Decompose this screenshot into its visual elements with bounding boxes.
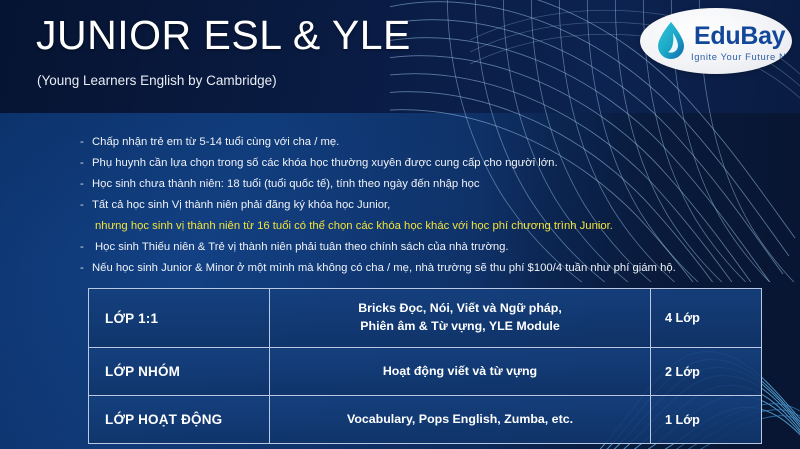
table-cell-description: Bricks Đọc, Nói, Viết và Ngữ pháp, Phiên… bbox=[270, 289, 651, 348]
list-item: - Phụ huynh cần lựa chọn trong số các kh… bbox=[80, 153, 780, 174]
logo-tagline: Ignite Your Future NOW! bbox=[691, 51, 792, 62]
list-item-label: Học sinh Thiếu niên & Trẻ vị thành niên … bbox=[95, 237, 509, 258]
logo-wordmark: EduBay bbox=[694, 22, 785, 51]
table-cell-description: Vocabulary, Pops English, Zumba, etc. bbox=[270, 396, 651, 444]
bullet-dash-icon: - bbox=[80, 195, 92, 216]
table-cell-description: Hoạt động viết và từ vựng bbox=[270, 348, 651, 396]
list-item-label: Chấp nhận trẻ em từ 5-14 tuổi cùng với c… bbox=[92, 132, 339, 153]
list-item-label: nhưng học sinh vị thành niên từ 16 tuổi … bbox=[95, 216, 613, 237]
table-cell-count: 4 Lớp bbox=[651, 289, 762, 348]
bullet-dash-icon: - bbox=[80, 237, 95, 258]
bullet-dash-icon: - bbox=[80, 174, 92, 195]
bullet-list: - Chấp nhận trẻ em từ 5-14 tuổi cùng với… bbox=[80, 132, 780, 279]
page-title: JUNIOR ESL & YLE bbox=[36, 12, 411, 59]
slide-root: JUNIOR ESL & YLE (Young Learners English… bbox=[0, 0, 800, 449]
table-row: LỚP NHÓM Hoạt động viết và từ vựng 2 Lớp bbox=[89, 348, 762, 396]
list-item-label: Phụ huynh cần lựa chọn trong số các khóa… bbox=[92, 153, 558, 174]
table-cell-count: 1 Lớp bbox=[651, 396, 762, 444]
list-item-highlighted: nhưng học sinh vị thành niên từ 16 tuổi … bbox=[80, 216, 780, 237]
class-types-table: LỚP 1:1 Bricks Đọc, Nói, Viết và Ngữ phá… bbox=[88, 288, 762, 444]
bullet-dash-icon: - bbox=[80, 132, 92, 153]
table-row: LỚP HOẠT ĐỘNG Vocabulary, Pops English, … bbox=[89, 396, 762, 444]
table-cell-class-name: LỚP NHÓM bbox=[89, 348, 270, 396]
list-item: - Nếu học sinh Junior & Minor ở một mình… bbox=[80, 258, 780, 279]
list-item: - Tất cả học sinh Vị thành niên phải đăn… bbox=[80, 195, 780, 216]
page-subtitle: (Young Learners English by Cambridge) bbox=[37, 73, 277, 88]
list-item-label: Học sinh chưa thành niên: 18 tuổi (tuổi … bbox=[92, 174, 480, 195]
table-row: LỚP 1:1 Bricks Đọc, Nói, Viết và Ngữ phá… bbox=[89, 289, 762, 348]
bullet-dash-icon: - bbox=[80, 153, 92, 174]
water-drop-icon bbox=[656, 21, 686, 61]
table-cell-class-name: LỚP 1:1 bbox=[89, 289, 270, 348]
description-line-2: Phiên âm & Từ vựng, YLE Module bbox=[274, 318, 646, 336]
table-cell-class-name: LỚP HOẠT ĐỘNG bbox=[89, 396, 270, 444]
list-item: - Chấp nhận trẻ em từ 5-14 tuổi cùng với… bbox=[80, 132, 780, 153]
table-cell-count: 2 Lớp bbox=[651, 348, 762, 396]
list-item-label: Tất cả học sinh Vị thành niên phải đăng … bbox=[92, 195, 390, 216]
edubay-logo[interactable]: EduBay Ignite Your Future NOW! bbox=[640, 8, 792, 74]
bullet-dash-icon: - bbox=[80, 258, 92, 279]
description-line-1: Bricks Đọc, Nói, Viết và Ngữ pháp, bbox=[274, 300, 646, 318]
list-item: - Học sinh Thiếu niên & Trẻ vị thành niê… bbox=[80, 237, 780, 258]
list-item-label: Nếu học sinh Junior & Minor ở một mình m… bbox=[92, 258, 676, 279]
list-item: - Học sinh chưa thành niên: 18 tuổi (tuổ… bbox=[80, 174, 780, 195]
